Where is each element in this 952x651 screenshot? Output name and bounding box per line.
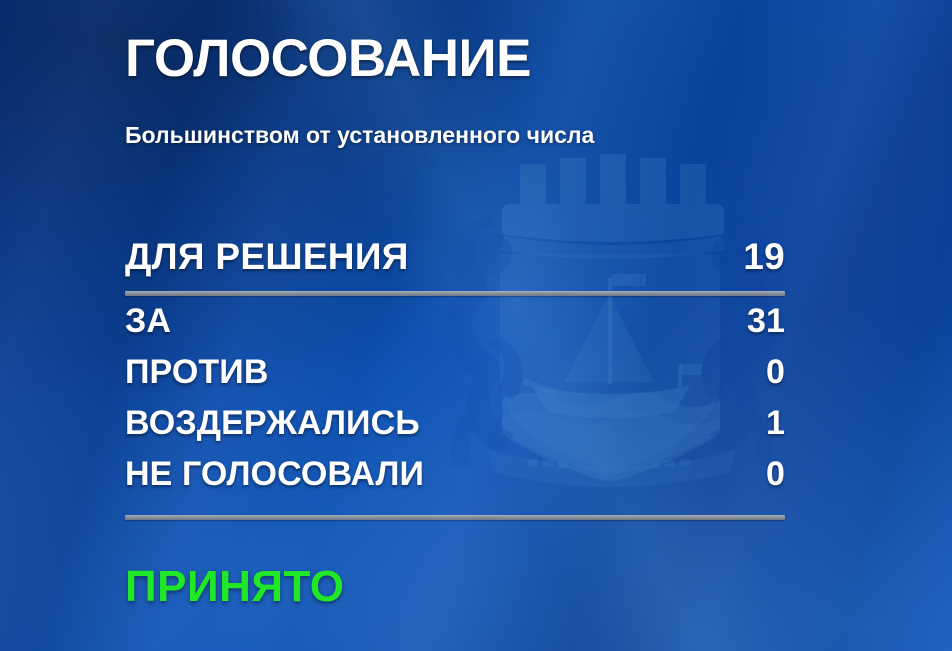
- vote-label-against: ПРОТИВ: [125, 353, 268, 392]
- vote-value-for: 31: [747, 302, 785, 341]
- separator-bottom: [125, 515, 785, 520]
- vote-value-abstained: 1: [766, 404, 785, 443]
- table-row-against: ПРОТИВ 0: [125, 353, 785, 404]
- page-title: ГОЛОСОВАНИЕ: [125, 32, 531, 86]
- table-row-for: ЗА 31: [125, 302, 785, 353]
- board-content: ГОЛОСОВАНИЕ Большинством от установленно…: [125, 0, 785, 651]
- vote-label-not-voted: НЕ ГОЛОСОВАЛИ: [125, 455, 424, 494]
- table-row-not-voted: НЕ ГОЛОСОВАЛИ 0: [125, 455, 785, 506]
- voting-result-board: ГОЛОСОВАНИЕ Большинством от установленно…: [0, 0, 952, 651]
- vote-value-against: 0: [766, 353, 785, 392]
- vote-label-for: ЗА: [125, 302, 171, 341]
- vote-value-not-voted: 0: [766, 455, 785, 494]
- vote-tally: ДЛЯ РЕШЕНИЯ 19 ЗА 31 ПРОТИВ 0 ВОЗДЕРЖАЛИ…: [125, 236, 785, 506]
- vote-label-abstained: ВОЗДЕРЖАЛИСЬ: [125, 404, 420, 443]
- separator-top: [125, 291, 785, 296]
- voting-rule-subtitle: Большинством от установленного числа: [125, 122, 594, 149]
- table-row-abstained: ВОЗДЕРЖАЛИСЬ 1: [125, 404, 785, 455]
- table-row-quorum: ДЛЯ РЕШЕНИЯ 19: [125, 236, 785, 288]
- quorum-value: 19: [743, 236, 785, 278]
- quorum-label: ДЛЯ РЕШЕНИЯ: [125, 236, 409, 278]
- status-badge: ПРИНЯТО: [125, 562, 345, 612]
